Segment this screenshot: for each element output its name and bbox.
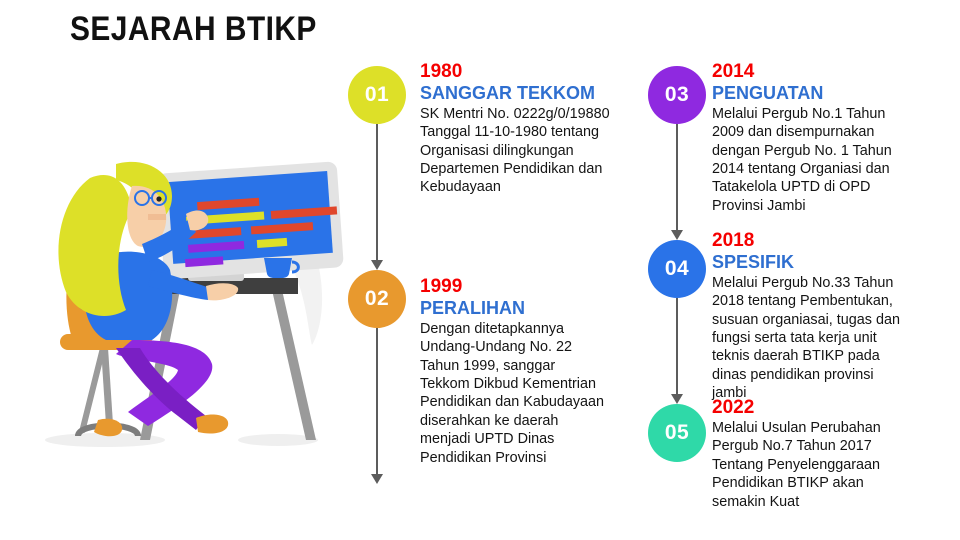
timeline-body-04: Melalui Pergub No.33 Tahun2018 tentang P… xyxy=(712,274,952,403)
timeline-body-01: SK Mentri No. 0222g/0/19880Tanggal 11-10… xyxy=(420,105,660,197)
page-title: SEJARAH BTIKP xyxy=(70,10,317,49)
connector-01-to-02 xyxy=(370,124,384,270)
shoe-right xyxy=(196,415,228,434)
timeline-bubble-01[interactable]: 01 xyxy=(348,66,406,124)
woman-at-computer-illustration xyxy=(20,140,350,470)
timeline-year-02: 1999 xyxy=(420,277,660,297)
timeline-body-03: Melalui Pergub No.1 Tahun2009 dan disemp… xyxy=(712,105,952,216)
timeline-year-03: 2014 xyxy=(712,62,952,82)
timeline-year-04: 2018 xyxy=(712,231,952,251)
timeline-text-01: 1980 SANGGAR TEKKOM SK Mentri No. 0222g/… xyxy=(420,62,660,197)
timeline-number-02: 02 xyxy=(365,287,389,311)
timeline-year-01: 1980 xyxy=(420,62,660,82)
timeline-subtitle-03: PENGUATAN xyxy=(712,83,952,104)
connector-stem xyxy=(676,124,678,231)
timeline-subtitle-02: PERALIHAN xyxy=(420,298,660,319)
timeline-number-03: 03 xyxy=(665,83,689,107)
face-shade xyxy=(148,214,166,220)
timeline-text-02: 1999 PERALIHAN Dengan ditetapkannyaUndan… xyxy=(420,277,660,467)
timeline-text-03: 2014 PENGUATAN Melalui Pergub No.1 Tahun… xyxy=(712,62,952,215)
timeline-body-02: Dengan ditetapkannyaUndang-Undang No. 22… xyxy=(420,320,660,468)
monitor xyxy=(157,161,344,279)
eye xyxy=(156,196,161,201)
infographic-page: SEJARAH BTIKP xyxy=(0,0,960,540)
connector-02-to-end xyxy=(370,328,384,484)
connector-stem xyxy=(676,298,678,395)
timeline-year-05: 2022 xyxy=(712,398,952,418)
shoe-left xyxy=(94,419,122,437)
timeline-number-01: 01 xyxy=(365,83,389,107)
hand-lower xyxy=(206,283,238,300)
connector-04-to-05 xyxy=(670,298,684,404)
timeline-body-05: Melalui Usulan PerubahanPergub No.7 Tahu… xyxy=(712,419,952,511)
timeline-bubble-02[interactable]: 02 xyxy=(348,270,406,328)
connector-stem xyxy=(376,124,378,261)
timeline-subtitle-01: SANGGAR TEKKOM xyxy=(420,83,660,104)
connector-arrowhead xyxy=(671,230,683,240)
connector-arrowhead xyxy=(371,474,383,484)
timeline-number-04: 04 xyxy=(665,257,689,281)
connector-arrowhead xyxy=(671,394,683,404)
hair xyxy=(58,175,132,316)
timeline-subtitle-04: SPESIFIK xyxy=(712,252,952,273)
connector-stem xyxy=(376,328,378,475)
timeline-number-05: 05 xyxy=(665,421,689,445)
connector-03-to-04 xyxy=(670,124,684,240)
timeline-text-05: 2022 Melalui Usulan PerubahanPergub No.7… xyxy=(712,398,952,511)
timeline-text-04: 2018 SPESIFIK Melalui Pergub No.33 Tahun… xyxy=(712,231,952,403)
connector-arrowhead xyxy=(371,260,383,270)
